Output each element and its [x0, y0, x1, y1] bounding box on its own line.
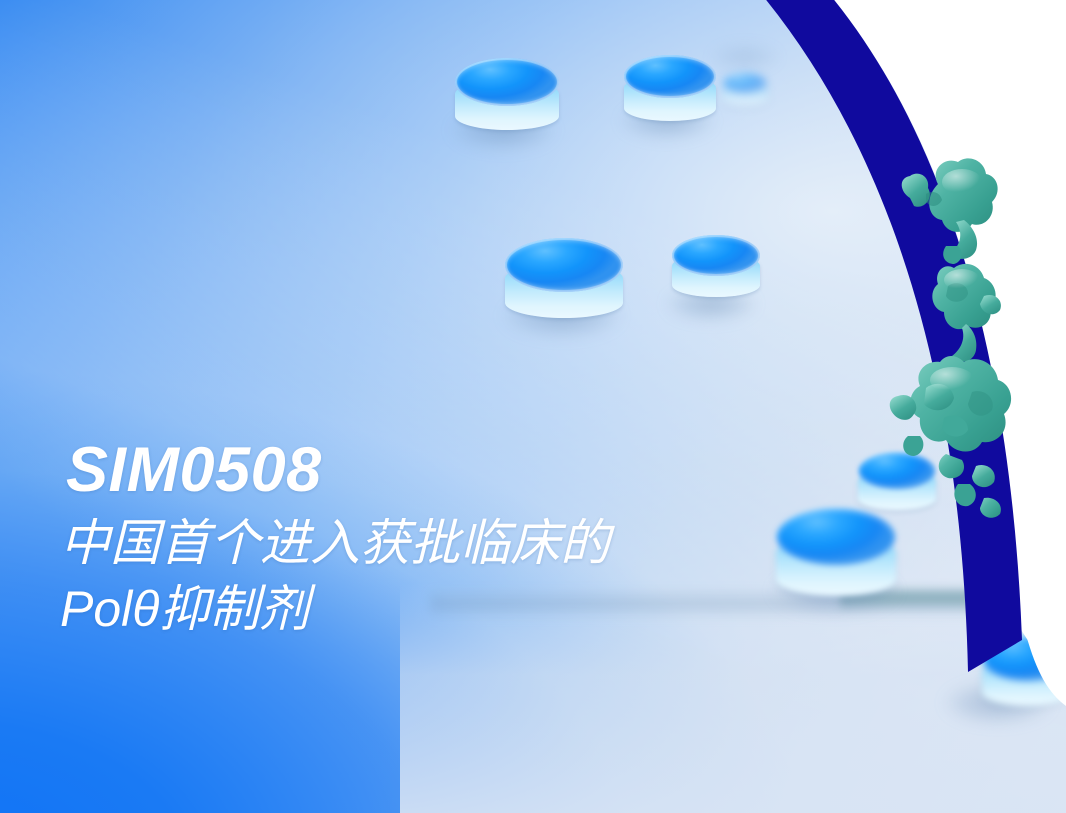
- protein-domain-middle: [932, 264, 1001, 329]
- protein-domain-top: [902, 158, 998, 231]
- protein-tail: [939, 454, 1001, 518]
- polymerase-theta-protein-ribbon: [880, 150, 1050, 570]
- protein-linker-2: [952, 324, 976, 362]
- promo-slide: SIM0508 中国首个进入获批临床的 Polθ抑制剂: [0, 0, 1066, 813]
- protein-domain-bottom: [890, 356, 1011, 456]
